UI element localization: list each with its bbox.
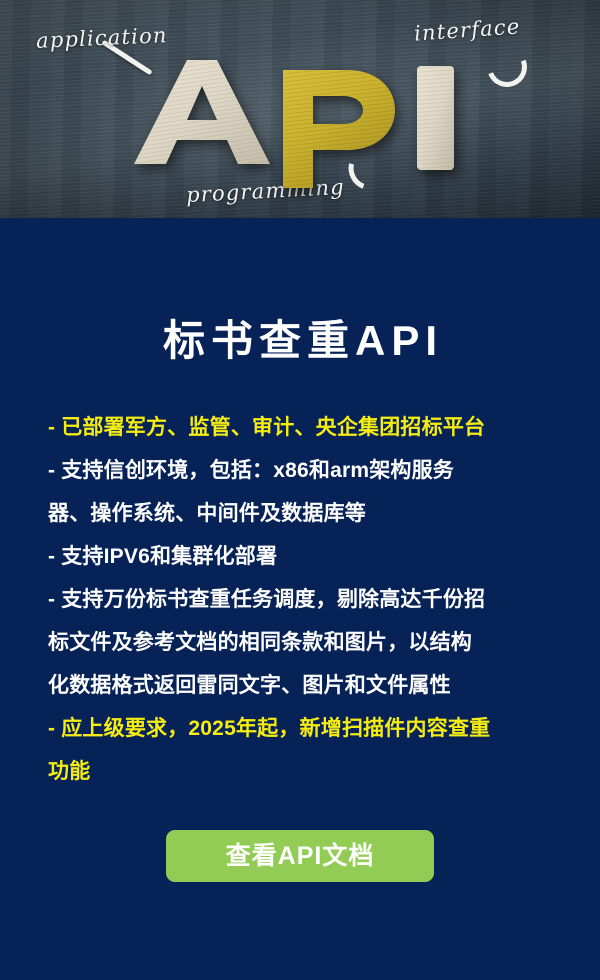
feature-line: 标文件及参考文档的相同条款和图片，以结构 <box>48 621 558 664</box>
cta-container: 查看API文档 <box>0 830 600 882</box>
hero-label-interface: interface <box>413 14 521 45</box>
feature-line: 化数据格式返回雷同文字、图片和文件属性 <box>48 664 558 707</box>
feature-line: - 支持IPV6和集群化部署 <box>48 535 558 578</box>
wood-letter-a <box>132 58 272 166</box>
hero-banner: application interface programming <box>0 0 600 218</box>
feature-line: - 应上级要求，2025年起，新增扫描件内容查重 <box>48 707 558 750</box>
view-api-docs-button[interactable]: 查看API文档 <box>166 830 434 882</box>
main-content: 标书查重API - 已部署军方、监管、审计、央企集团招标平台 - 支持信创环境，… <box>0 218 600 980</box>
api-promo-page: application interface programming 标书查重AP… <box>0 0 600 980</box>
wood-letter-i <box>414 64 458 172</box>
feature-line: 功能 <box>48 750 558 793</box>
feature-line: - 已部署军方、监管、审计、央企集团招标平台 <box>48 406 558 449</box>
wood-letter-p <box>277 66 399 190</box>
feature-list: - 已部署军方、监管、审计、央企集团招标平台 - 支持信创环境，包括：x86和a… <box>48 406 558 793</box>
feature-line: 器、操作系统、中间件及数据库等 <box>48 492 558 535</box>
hero-label-application: application <box>36 23 169 53</box>
chalk-stroke-interface <box>481 41 534 94</box>
feature-line: - 支持信创环境，包括：x86和arm架构服务 <box>48 449 558 492</box>
feature-line: - 支持万份标书查重任务调度，剔除高达千份招 <box>48 578 558 621</box>
page-title: 标书查重API <box>0 318 600 364</box>
